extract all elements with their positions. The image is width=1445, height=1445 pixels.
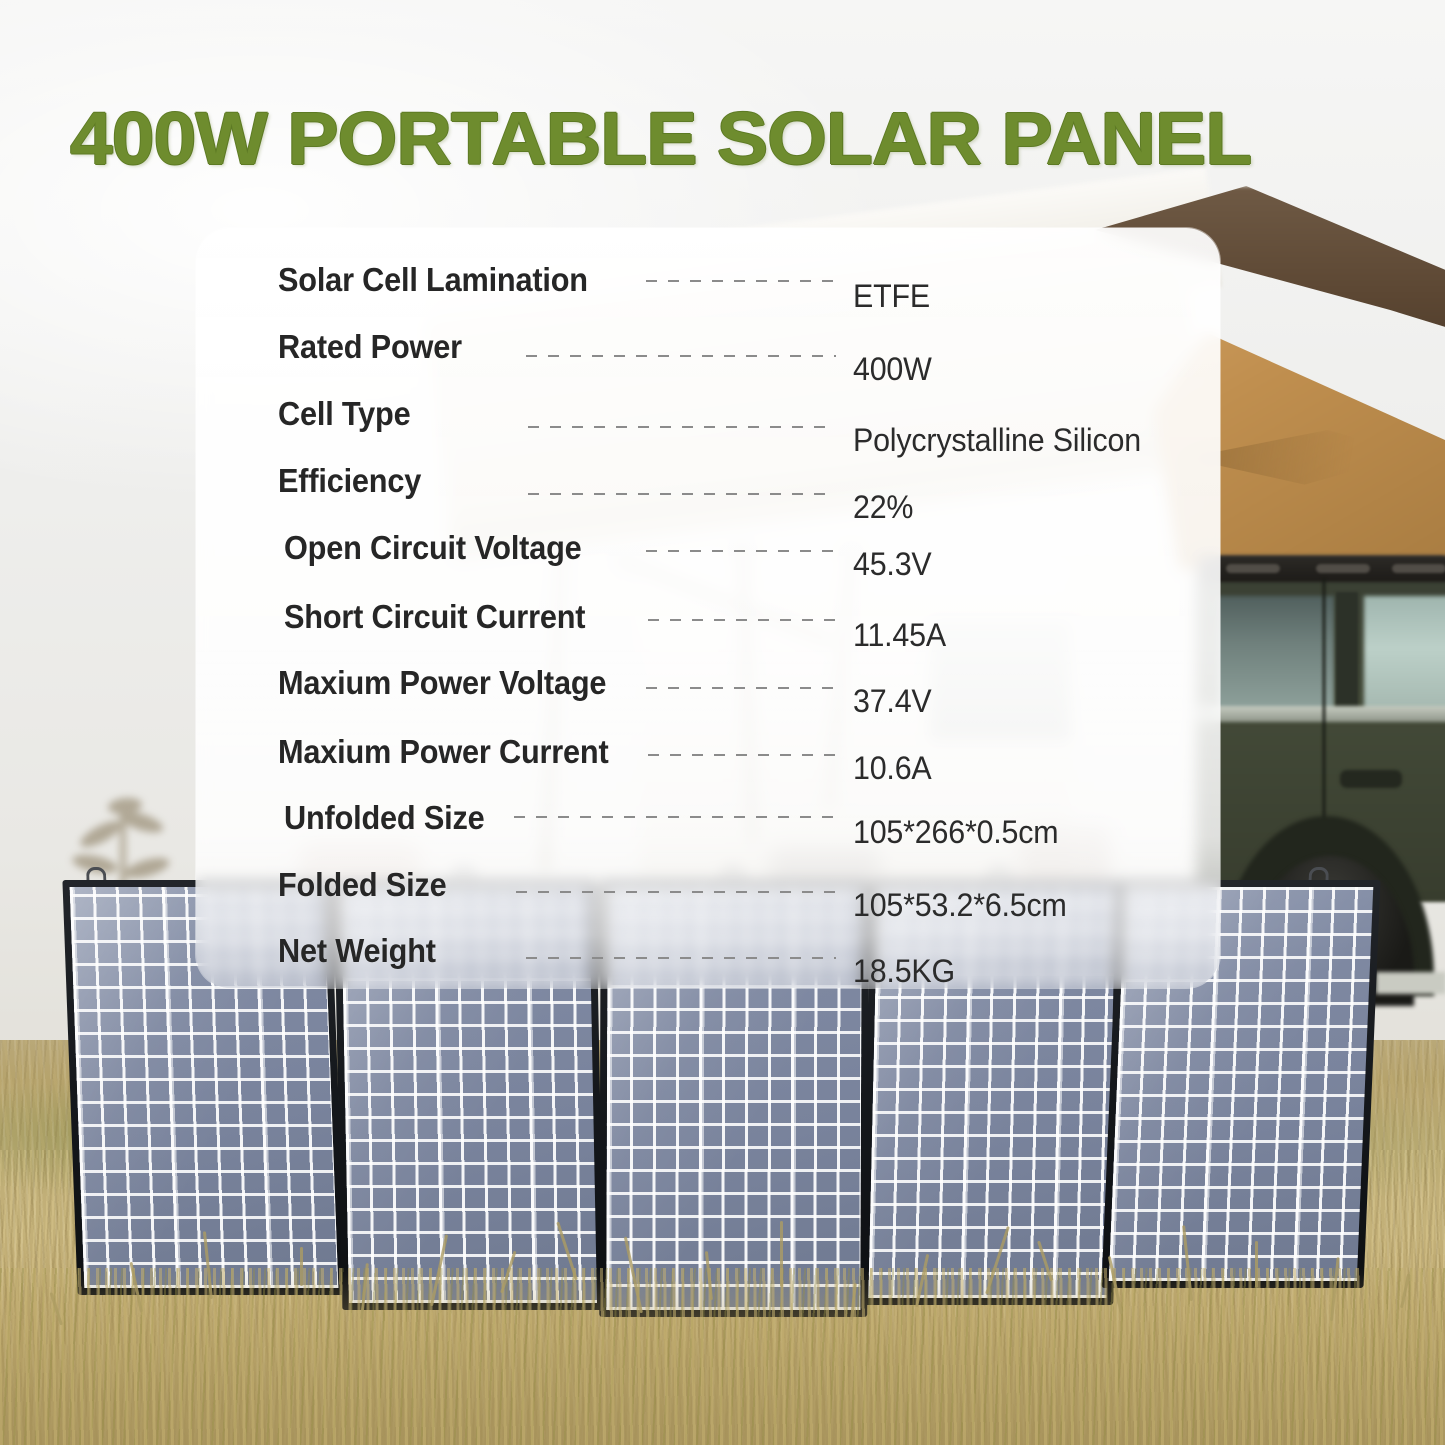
spec-leader-line bbox=[646, 550, 836, 552]
spec-row: Open Circuit Voltage 45.3V bbox=[196, 518, 1220, 578]
spec-label: Maxium Power Voltage bbox=[278, 664, 606, 702]
spec-row: Efficiency 22% bbox=[196, 451, 1220, 511]
spec-leader-line bbox=[514, 816, 836, 818]
spec-row: Unfolded Size 105*266*0.5cm bbox=[196, 788, 1220, 848]
suv-door-handle bbox=[1340, 770, 1402, 788]
suv-side-window bbox=[1364, 596, 1445, 712]
spec-value: 10.6A bbox=[853, 750, 932, 787]
spec-value: 18.5KG bbox=[853, 953, 955, 990]
spec-label: Unfolded Size bbox=[284, 799, 484, 837]
spec-label: Open Circuit Voltage bbox=[284, 529, 582, 567]
spec-value: 45.3V bbox=[853, 546, 932, 583]
spec-row: Short Circuit Current 11.45A bbox=[196, 587, 1220, 647]
spec-leader-line bbox=[648, 619, 836, 621]
spec-leader-line bbox=[528, 426, 836, 428]
spec-row: Net Weight 18.5KG bbox=[196, 921, 1220, 981]
spec-row: Folded Size 105*53.2*6.5cm bbox=[196, 855, 1220, 915]
spec-label: Short Circuit Current bbox=[284, 598, 585, 636]
spec-label: Efficiency bbox=[278, 462, 421, 500]
suv-roof-rack-bar bbox=[1392, 564, 1445, 573]
infographic-root: Solar Cell Lamination ETFE Rated Power 4… bbox=[0, 0, 1445, 1445]
spec-value: 400W bbox=[853, 351, 932, 388]
spec-row: Maxium Power Current 10.6A bbox=[196, 722, 1220, 782]
spec-label: Cell Type bbox=[278, 395, 410, 433]
spec-label: Maxium Power Current bbox=[278, 733, 609, 771]
spec-label: Net Weight bbox=[278, 932, 436, 970]
spec-value: 105*53.2*6.5cm bbox=[853, 887, 1067, 924]
spec-leader-line bbox=[646, 687, 836, 689]
spec-value: 105*266*0.5cm bbox=[853, 814, 1058, 851]
suv-beltline bbox=[1196, 706, 1445, 722]
spec-row: Rated Power 400W bbox=[196, 317, 1220, 377]
suv-roof-rack-bar bbox=[1316, 564, 1370, 573]
suv-door-pillar bbox=[1336, 592, 1358, 716]
spec-leader-line bbox=[526, 957, 836, 959]
spec-row: Maxium Power Voltage 37.4V bbox=[196, 653, 1220, 713]
spec-table: Solar Cell Lamination ETFE Rated Power 4… bbox=[196, 228, 1220, 988]
spec-leader-line bbox=[646, 280, 839, 282]
spec-value: 37.4V bbox=[853, 683, 932, 720]
weed-leaf bbox=[123, 854, 172, 882]
page-title: 400W PORTABLE SOLAR PANEL bbox=[70, 96, 1251, 181]
spec-leader-line bbox=[528, 493, 836, 495]
spec-label: Folded Size bbox=[278, 866, 446, 904]
suv-roof-rack-bar bbox=[1226, 564, 1280, 573]
spec-leader-line bbox=[516, 891, 836, 893]
spec-label: Solar Cell Lamination bbox=[278, 261, 588, 299]
spec-leader-line bbox=[648, 754, 836, 756]
weed-leaf bbox=[77, 816, 125, 852]
spec-leader-line bbox=[526, 355, 836, 357]
spec-value: ETFE bbox=[853, 278, 930, 315]
spec-value: 11.45A bbox=[853, 617, 946, 654]
suv-rear-window bbox=[1216, 596, 1334, 712]
spec-row: Solar Cell Lamination ETFE bbox=[196, 250, 1220, 310]
spec-label: Rated Power bbox=[278, 328, 462, 366]
spec-row: Cell Type Polycrystalline Silicon bbox=[196, 384, 1220, 444]
